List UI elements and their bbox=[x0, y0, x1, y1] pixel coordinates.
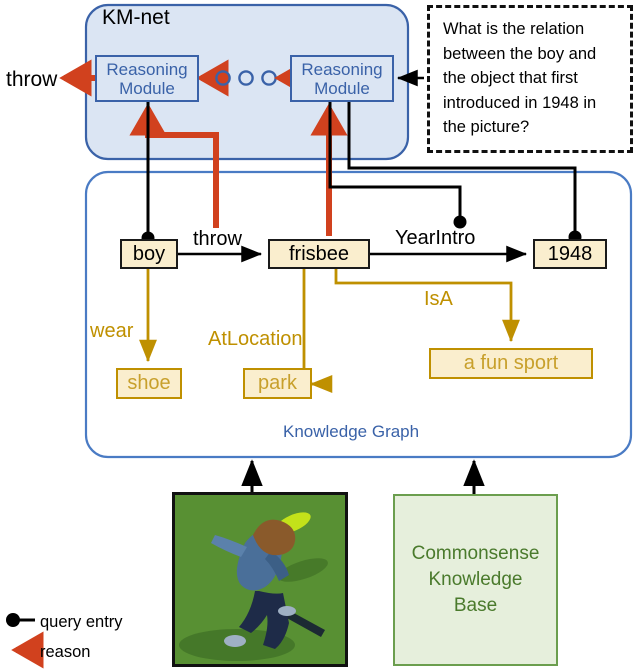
kg-node-1948[interactable]: 1948 bbox=[533, 239, 607, 269]
kg-node-park[interactable]: park bbox=[243, 368, 312, 399]
kmnet-output-label: throw bbox=[6, 68, 57, 92]
knowledge-graph-label: Knowledge Graph bbox=[283, 422, 419, 442]
reasoning-module-right-line2: Module bbox=[314, 79, 370, 98]
kg-edge-label-atlocation: AtLocation bbox=[208, 328, 303, 351]
kg-edge-label-yearintro: YearIntro bbox=[395, 227, 475, 250]
question-box: What is the relation between the boy and… bbox=[427, 5, 633, 153]
legend-label-query-entry: query entry bbox=[40, 613, 123, 632]
input-image-photo[interactable] bbox=[172, 492, 348, 667]
ckb-line1: Commonsense bbox=[412, 541, 540, 567]
ckb-line2: Knowledge bbox=[428, 567, 522, 593]
kg-edge-label-wear: wear bbox=[90, 320, 133, 343]
kg-node-shoe[interactable]: shoe bbox=[116, 368, 182, 399]
legend-label-reason: reason bbox=[40, 643, 90, 662]
ckb-line3: Base bbox=[454, 593, 497, 619]
knowledge-graph-container bbox=[86, 172, 631, 457]
kg-node-a-fun-sport[interactable]: a fun sport bbox=[429, 348, 593, 379]
kg-edge-label-throw: throw bbox=[193, 228, 242, 251]
reasoning-module-left-line2: Module bbox=[119, 79, 175, 98]
kg-node-boy[interactable]: boy bbox=[120, 239, 178, 269]
photo-illustration bbox=[175, 495, 345, 664]
legend-query-dot bbox=[6, 613, 20, 627]
kg-edge-label-isa: IsA bbox=[424, 288, 453, 311]
commonsense-knowledge-base-box[interactable]: Commonsense Knowledge Base bbox=[393, 494, 558, 666]
reasoning-module-left[interactable]: Reasoning Module bbox=[95, 55, 199, 102]
reasoning-module-right[interactable]: Reasoning Module bbox=[290, 55, 394, 102]
kg-node-frisbee[interactable]: frisbee bbox=[268, 239, 370, 269]
reasoning-module-right-line1: Reasoning bbox=[301, 60, 382, 79]
kmnet-title: KM-net bbox=[102, 6, 170, 30]
reasoning-module-left-line1: Reasoning bbox=[106, 60, 187, 79]
figure-root: KM-net throw Reasoning Module Reasoning … bbox=[0, 0, 640, 669]
